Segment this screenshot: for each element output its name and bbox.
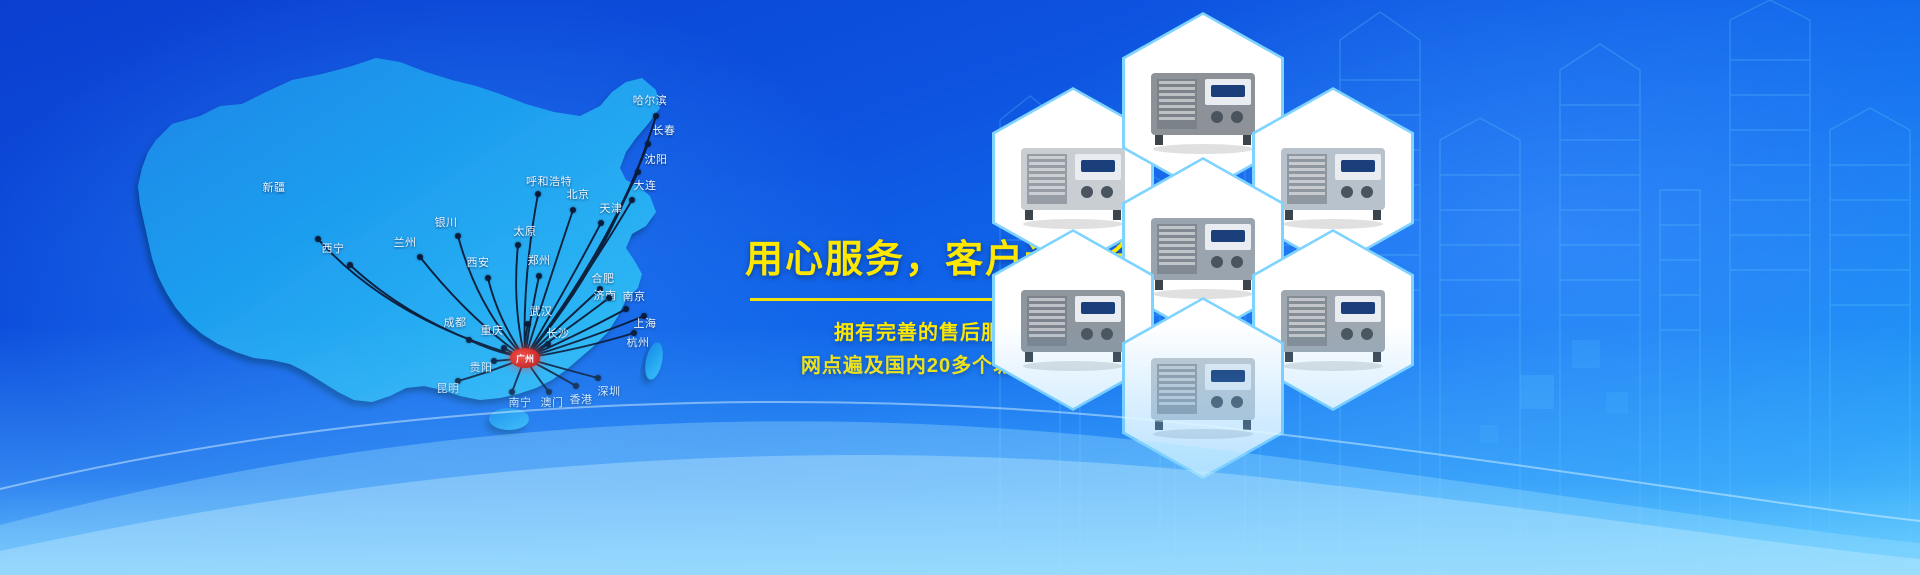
map-city-dot[interactable] — [515, 242, 521, 248]
map-city-dot[interactable] — [466, 337, 472, 343]
map-city-dot[interactable] — [501, 345, 507, 351]
map-city-dot[interactable] — [635, 169, 641, 175]
map-city-dot[interactable] — [606, 295, 612, 301]
map-city-dot[interactable] — [455, 378, 461, 384]
map-city-dot[interactable] — [653, 113, 659, 119]
map-city-dot[interactable] — [645, 141, 651, 147]
map-city-dot[interactable] — [631, 330, 637, 336]
map-city-dot[interactable] — [485, 275, 491, 281]
map-city-dot[interactable] — [347, 262, 353, 268]
map-city-dot[interactable] — [629, 197, 635, 203]
map-city-dot[interactable] — [573, 383, 579, 389]
map-city-dot[interactable] — [315, 236, 321, 242]
map-city-dot[interactable] — [525, 321, 531, 327]
map-city-dot[interactable] — [535, 191, 541, 197]
map-city-dot[interactable] — [641, 313, 647, 319]
product-hex-gallery — [950, 0, 1510, 470]
map-city-dot[interactable] — [570, 207, 576, 213]
map-city-dot[interactable] — [455, 233, 461, 239]
map-city-dot[interactable] — [546, 389, 552, 395]
map-hub-marker[interactable]: 广州 — [510, 348, 540, 368]
map-city-dot[interactable] — [417, 254, 423, 260]
map-city-dot[interactable] — [623, 306, 629, 312]
promo-banner: 哈尔滨长春沈阳大连呼和浩特北京天津新疆银川兰州西宁太原西安郑州济南合肥南京上海杭… — [0, 0, 1920, 575]
map-city-dot[interactable] — [536, 273, 542, 279]
map-hub-label: 广州 — [510, 348, 540, 368]
map-city-dot[interactable] — [509, 389, 515, 395]
map-city-dot[interactable] — [491, 358, 497, 364]
map-city-dot[interactable] — [597, 286, 603, 292]
map-city-dot[interactable] — [545, 341, 551, 347]
map-city-dot[interactable] — [598, 220, 604, 226]
map-city-dot[interactable] — [595, 375, 601, 381]
china-service-network-map: 哈尔滨长春沈阳大连呼和浩特北京天津新疆银川兰州西宁太原西安郑州济南合肥南京上海杭… — [60, 20, 760, 450]
